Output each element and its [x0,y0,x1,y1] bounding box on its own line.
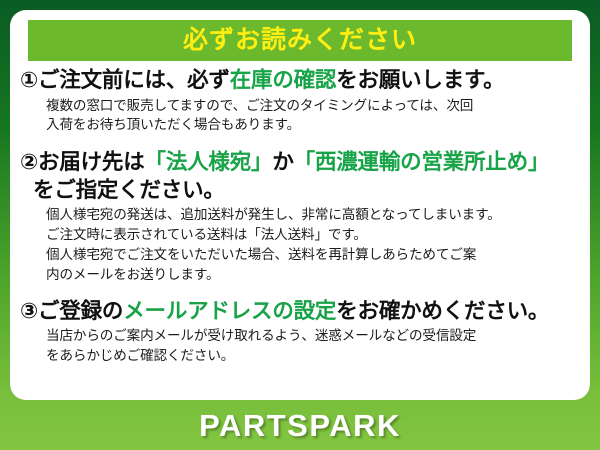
notice-item-3-detail-line-1: 当店からのご案内メールが受け取れるよう、迷惑メールなどの受信設定 [46,328,476,343]
notice-item-1-heading-part-1: ご注文前には、必ず [38,68,230,92]
notice-card: 必ずお読みください ①ご注文前には、必ず在庫の確認をお願いします。 複数の窓口で… [10,10,590,400]
notice-item-1-detail-line-2: 入荷をお待ち頂いただく場合もあります。 [46,117,300,132]
notice-item-2-heading-line-2: をご指定ください。 [20,177,225,205]
notice-item-2-marker: ② [20,150,38,174]
notice-item-1-heading: ①ご注文前には、必ず在庫の確認をお願いします。 [20,67,582,95]
notice-item-1-marker: ① [20,68,38,92]
notice-item-2-heading-part-3: か [272,150,293,174]
notice-item-1: ①ご注文前には、必ず在庫の確認をお願いします。 複数の窓口で販売してますので、ご… [20,67,582,135]
notice-item-2-heading-highlight-2: 「西濃運輸の営業所止め」 [294,150,550,174]
notice-item-2-detail-line-2: ご注文時に表示されている送料は「法人送料」です。 [46,227,367,242]
brand-footer: PARTSPARK [0,400,600,450]
notice-item-3-heading-part-3: をお確かめください。 [336,299,549,323]
notice-item-1-detail: 複数の窓口で販売してますので、ご注文のタイミングによっては、次回 入荷をお待ち頂… [46,96,582,136]
notice-item-1-detail-line-1: 複数の窓口で販売してますので、ご注文のタイミングによっては、次回 [46,98,473,113]
notice-item-1-heading-highlight: 在庫の確認 [230,68,337,92]
notice-page: 必ずお読みください ①ご注文前には、必ず在庫の確認をお願いします。 複数の窓口で… [0,0,600,450]
notice-item-3-detail: 当店からのご案内メールが受け取れるよう、迷惑メールなどの受信設定 をあらかじめご… [46,326,582,366]
page-title: 必ずお読みください [183,28,417,53]
notice-item-2-detail-line-1: 個人様宅宛の発送は、追加送料が発生し、非常に高額となってしまいます。 [46,207,501,222]
notice-item-3-detail-line-2: をあらかじめご確認ください。 [46,348,234,363]
notice-item-2-detail-line-3: 個人様宅宛でご注文をいただいた場合、送料を再計算しあらためてご案 [46,247,476,262]
notice-item-2-detail: 個人様宅宛の発送は、追加送料が発生し、非常に高額となってしまいます。 ご注文時に… [46,205,582,284]
notice-item-3-heading: ③ご登録のメールアドレスの設定をお確かめください。 [20,298,582,326]
notice-list: ①ご注文前には、必ず在庫の確認をお願いします。 複数の窓口で販売してますので、ご… [10,67,590,371]
notice-item-3: ③ご登録のメールアドレスの設定をお確かめください。 当店からのご案内メールが受け… [20,298,582,366]
header-banner: 必ずお読みください [28,20,572,61]
notice-item-3-heading-part-1: ご登録の [38,299,123,323]
notice-item-2-heading-highlight-1: 「法人様宛」 [145,150,273,174]
notice-item-2-heading-part-1: お届け先は [38,150,145,174]
notice-item-3-marker: ③ [20,299,38,323]
brand-logo-text: PARTSPARK [199,410,401,441]
notice-item-2-detail-line-4: 内のメールをお送りします。 [46,267,219,282]
notice-item-1-heading-part-3: をお願いします。 [336,68,504,92]
notice-item-2-heading: ②お届け先は「法人様宛」か「西濃運輸の営業所止め」 をご指定ください。 [20,149,582,204]
notice-item-2: ②お届け先は「法人様宛」か「西濃運輸の営業所止め」 をご指定ください。 個人様宅… [20,149,582,284]
notice-item-3-heading-highlight: メールアドレスの設定 [123,299,336,323]
